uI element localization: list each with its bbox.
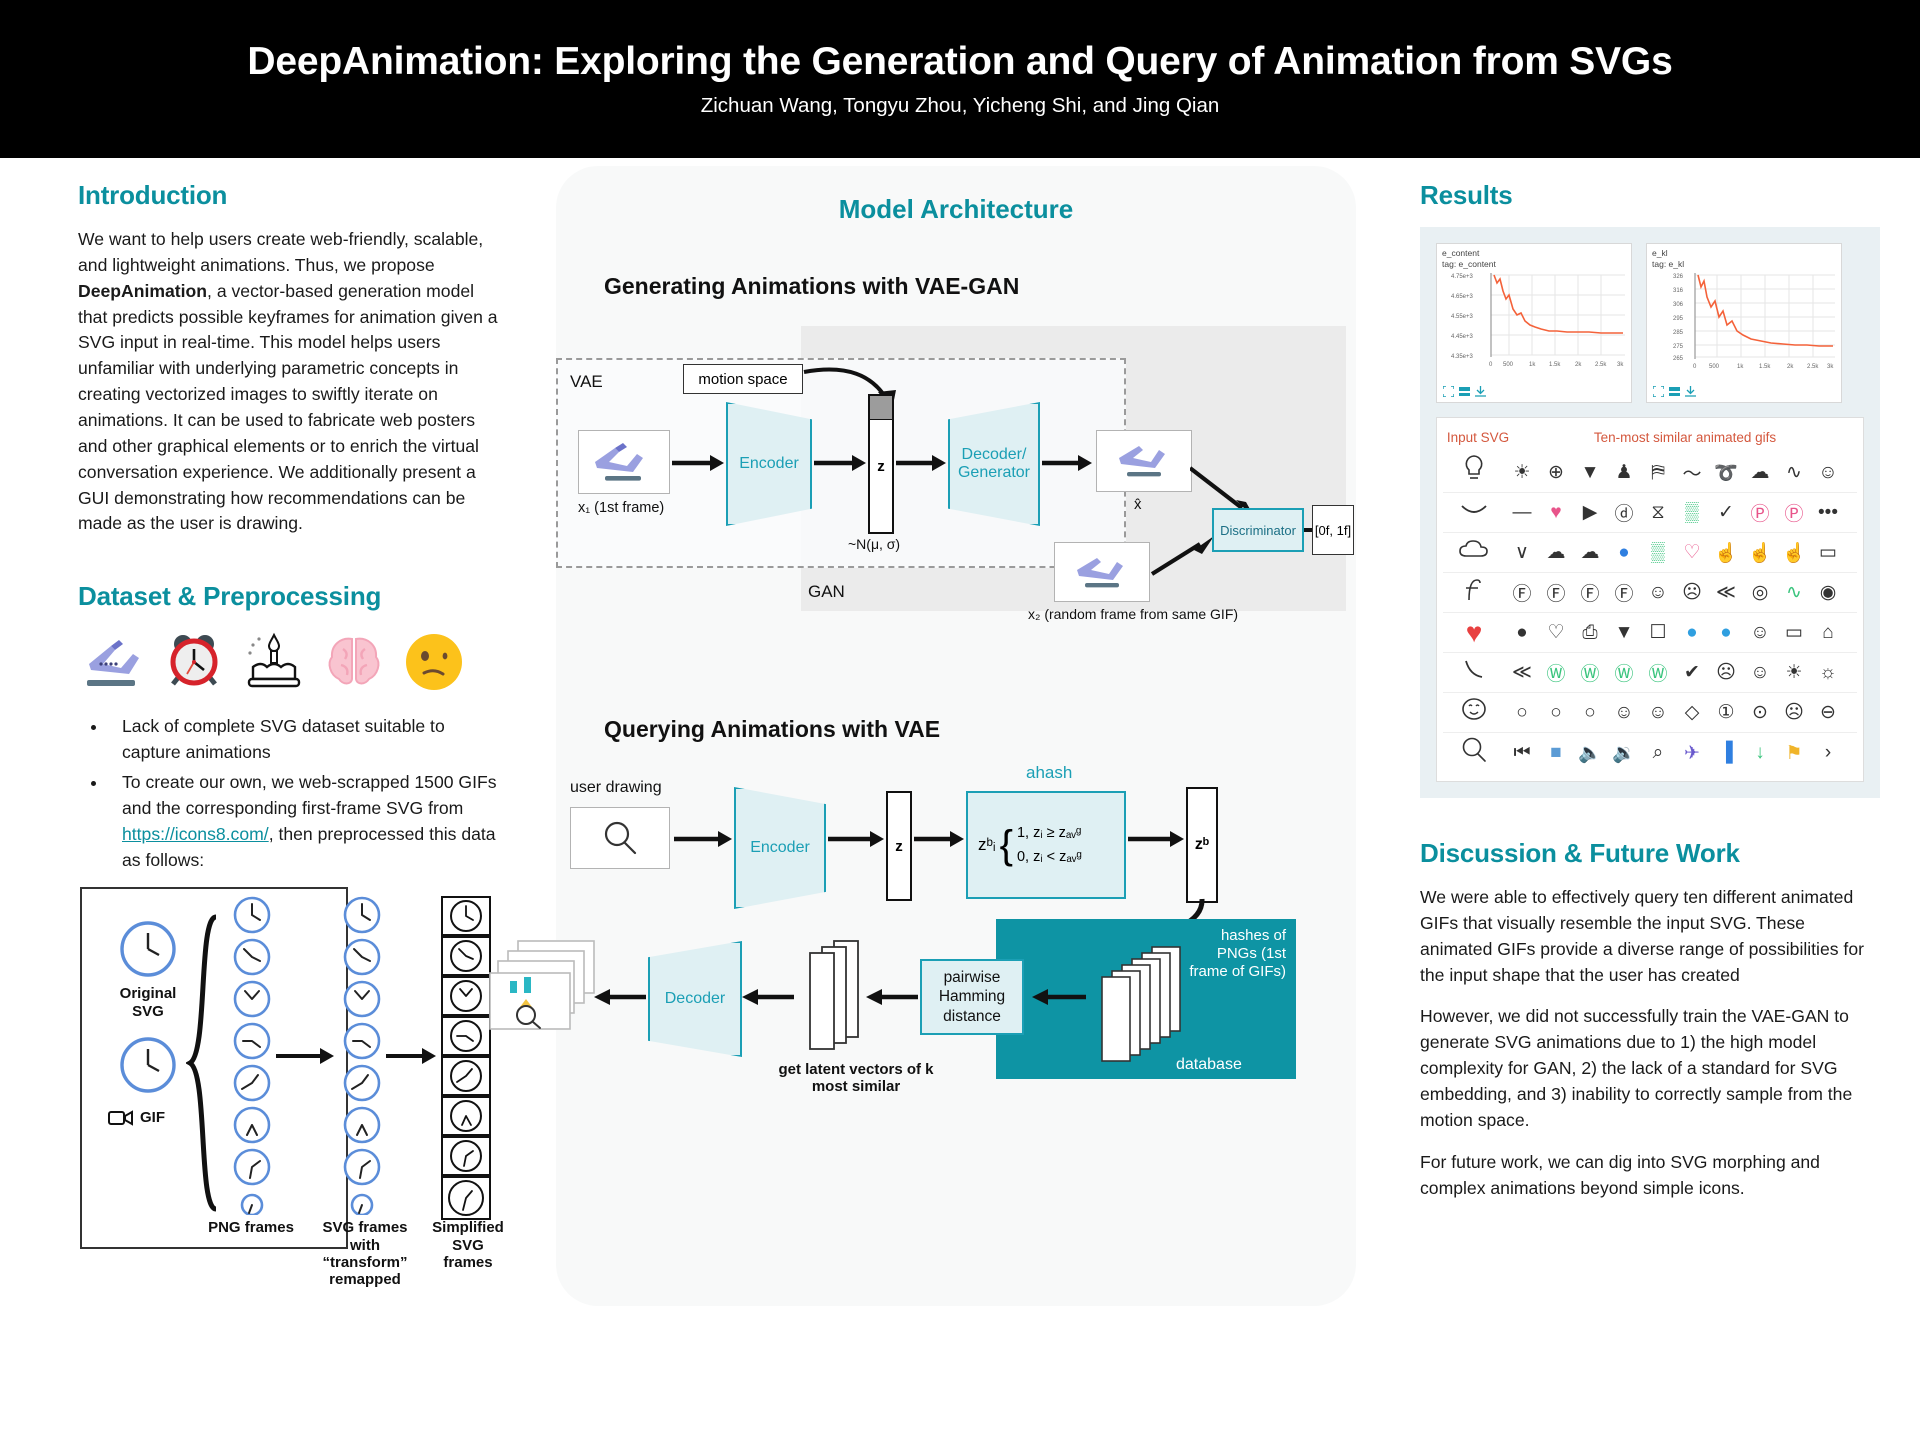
match-cell: ⎙ — [1573, 622, 1607, 644]
brace-icon: { — [1000, 829, 1013, 861]
match-cell: ◎ — [1743, 581, 1777, 604]
match-cell: ▐ — [1709, 742, 1743, 764]
svg-text:0: 0 — [1489, 362, 1493, 368]
discussion-heading: Discussion & Future Work — [1420, 838, 1880, 869]
svg-text:2.5k: 2.5k — [1807, 364, 1819, 370]
match-cell: ☺ — [1607, 702, 1641, 724]
x2-image-box — [1054, 542, 1150, 602]
magnifier-icon — [1443, 736, 1505, 771]
z-distribution-label: ~N(μ, σ) — [848, 536, 900, 552]
hash-sheets-stack-icon — [1088, 945, 1198, 1063]
decoder-label: Decoder/ Generator — [958, 446, 1030, 483]
zb-subscript-label: zᵇᵢ — [978, 835, 996, 855]
match-cell: ● — [1505, 622, 1539, 644]
match-cell: ≪ — [1709, 581, 1743, 604]
zb-label: zᵇ — [1195, 836, 1209, 854]
match-cell: ➰ — [1709, 461, 1743, 485]
x1-image-box — [578, 430, 670, 494]
user-drawing-box — [570, 807, 670, 869]
heart-icon: ♥ — [1443, 617, 1505, 649]
table-row: ☀ ⊕ ▼ ♟ ⛿ 〜 ➰ ☁ ∿ ☺ — [1443, 453, 1857, 493]
match-cell: ▭ — [1777, 621, 1811, 644]
svg-text:4.65e+3: 4.65e+3 — [1451, 294, 1474, 300]
left-column: Introduction We want to help users creat… — [78, 180, 508, 1249]
match-cell: ☀ — [1777, 661, 1811, 684]
svg-text:4.35e+3: 4.35e+3 — [1451, 354, 1474, 360]
model-heading: Model Architecture — [556, 166, 1356, 225]
svg-transform-stack — [340, 895, 384, 1215]
match-cell: ☁ — [1743, 461, 1777, 484]
svg-text:4.75e+3: 4.75e+3 — [1451, 274, 1474, 280]
similarity-results-grid: Input SVG Ten-most similar animated gifs… — [1436, 417, 1864, 782]
match-cell: 〜 — [1675, 459, 1709, 486]
arrow-encoder-to-z-icon — [828, 829, 886, 849]
match-cell: ⧖ — [1641, 502, 1675, 524]
match-cell: ⊙ — [1743, 701, 1777, 724]
airplane-icon — [78, 628, 150, 696]
z-label: z — [870, 458, 892, 475]
match-cell: ○ — [1505, 702, 1539, 724]
zb-output-bar: zᵇ — [1186, 787, 1218, 903]
backslash-icon — [1443, 657, 1505, 688]
query-z-bar: z — [886, 791, 912, 901]
tb-toolbar-2[interactable] — [1647, 386, 1841, 401]
match-cell: ♡ — [1539, 621, 1573, 644]
match-cell: Ⓦ — [1539, 659, 1573, 686]
table-row: ― ♥ ▶ ⓓ ⧖ ▒ ✓ Ⓟ Ⓟ ••• — [1443, 493, 1857, 533]
svg-text:316: 316 — [1673, 288, 1684, 294]
match-cell: ☀ — [1505, 461, 1539, 484]
svg-text:500: 500 — [1709, 364, 1720, 370]
arrow-encoder-to-z-icon — [814, 453, 868, 473]
svg-transform-label: SVG frames with “transform” remapped — [310, 1219, 420, 1288]
match-cell: Ⓕ — [1573, 579, 1607, 606]
encoder-label: Encoder — [750, 839, 810, 857]
table-row: ♥ ● ♡ ⎙ ▼ ☐ ● ● ☺ ▭ ⌂ — [1443, 613, 1857, 653]
match-cell: ⚑ — [1777, 742, 1811, 765]
match-cell: Ⓕ — [1505, 579, 1539, 606]
match-cell: ⛿ — [1641, 462, 1675, 484]
expand-icon[interactable] — [1443, 386, 1454, 397]
pipeline-arrow-1-icon — [276, 1045, 336, 1067]
discussion-paragraph-2: However, we did not successfully train t… — [1420, 1004, 1880, 1133]
svg-text:500: 500 — [1503, 362, 1514, 368]
expand-icon[interactable] — [1653, 386, 1664, 397]
match-cell: ▭ — [1811, 541, 1845, 564]
discriminator-box: Discriminator — [1212, 508, 1304, 552]
introduction-paragraph: We want to help users create web-friendl… — [78, 227, 508, 537]
vaegan-diagram: VAE GAN motion space x₁ (1st frame) — [556, 320, 1356, 620]
table-row: Ⓕ Ⓕ Ⓕ Ⓕ ☺ ☹ ≪ ◎ ∿ ◉ — [1443, 573, 1857, 613]
svg-text:306: 306 — [1673, 302, 1684, 308]
query-vae-diagram: user drawing Encoder z — [556, 769, 1356, 1159]
discussion-paragraph-3: For future work, we can dig into SVG mor… — [1420, 1150, 1880, 1202]
preprocessing-figure: OriginalSVG GIF — [78, 887, 508, 1249]
arrow-hamming-to-latent-icon — [864, 987, 920, 1007]
svg-text:326: 326 — [1673, 274, 1684, 280]
decoder-trapezoid: Decoder/ Generator — [948, 402, 1040, 526]
svg-text:4.45e+3: 4.45e+3 — [1451, 334, 1474, 340]
z-motion-segment — [870, 396, 892, 420]
match-cell: ▒ — [1675, 502, 1709, 524]
icons8-link[interactable]: https://icons8.com/ — [122, 824, 269, 844]
match-cell: ∿ — [1777, 461, 1811, 484]
intro-text-part2: , a vector-based generation model that p… — [78, 281, 498, 534]
introduction-heading: Introduction — [78, 180, 508, 211]
xhat-image-box — [1096, 430, 1192, 492]
list-item: To create our own, we web-scrapped 1500 … — [108, 770, 508, 873]
svg-text:285: 285 — [1673, 330, 1684, 336]
brace-icon — [186, 913, 226, 1213]
match-cell: Ⓟ — [1777, 499, 1811, 526]
query-subheading: Querying Animations with VAE — [604, 716, 1356, 743]
match-cell: ✓ — [1709, 501, 1743, 524]
airplane-icon — [1109, 438, 1179, 484]
video-camera-icon — [108, 1110, 134, 1126]
match-cell: ♟ — [1607, 461, 1641, 484]
match-cell: ■ — [1539, 742, 1573, 764]
x2-label: x₂ (random frame from same GIF) — [1028, 606, 1238, 622]
match-cell: Ⓦ — [1641, 659, 1675, 686]
match-cell: ● — [1709, 622, 1743, 644]
cloud-icon — [1443, 539, 1505, 567]
match-cell: ⓓ — [1607, 499, 1641, 526]
arrow-ahash-to-zb-icon — [1128, 829, 1186, 849]
tb-toolbar-1[interactable] — [1437, 386, 1631, 401]
gif-row: GIF — [108, 1109, 165, 1126]
match-cell: 🔉 — [1607, 741, 1641, 765]
svg-text:4.55e+3: 4.55e+3 — [1451, 314, 1474, 320]
svg-text:2k: 2k — [1787, 364, 1794, 370]
match-cell: ▼ — [1573, 462, 1607, 484]
list-item: Lack of complete SVG dataset suitable to… — [108, 714, 508, 766]
svg-text:1k: 1k — [1737, 364, 1744, 370]
right-column: Results e_content tag: e_content — [1420, 180, 1880, 1217]
vaegan-subheading: Generating Animations with VAE-GAN — [604, 273, 1356, 300]
match-cell: ☺ — [1641, 582, 1675, 604]
match-cell: Ⓕ — [1539, 579, 1573, 606]
svg-text:3k: 3k — [1827, 364, 1834, 370]
grid-header-row: Input SVG Ten-most similar animated gifs — [1443, 426, 1857, 453]
match-cell: ↓ — [1743, 742, 1777, 764]
arrow-z-to-decoder-icon — [896, 453, 948, 473]
xhat-label: x̂ — [1134, 496, 1142, 513]
ahash-label: ahash — [1026, 763, 1072, 783]
match-cell: 🔈 — [1573, 741, 1607, 765]
arrow-db-to-hamming-icon — [1028, 987, 1088, 1007]
original-svg-label: OriginalSVG — [96, 985, 200, 1020]
match-cell: ♡ — [1675, 541, 1709, 564]
svg-text:275: 275 — [1673, 344, 1684, 350]
query-encoder-trapezoid: Encoder — [734, 787, 826, 909]
match-cell: ● — [1607, 542, 1641, 564]
tensorboard-card-e-content: e_content tag: e_content — [1436, 243, 1632, 403]
poster-header: DeepAnimation: Exploring the Generation … — [0, 0, 1920, 158]
match-cell: ♥ — [1539, 502, 1573, 524]
original-svg-clock-icon — [118, 919, 178, 979]
tensorboard-card-e-kl: e_kl tag: e_kl — [1646, 243, 1842, 403]
match-cell: ☺ — [1811, 462, 1845, 484]
table-row: ∨ ☁ ☁ ● ▒ ♡ ☝ ☝ ☝ ▭ — [1443, 533, 1857, 573]
match-cell: Ⓕ — [1607, 579, 1641, 606]
match-cell: ☝ — [1777, 541, 1811, 565]
arrow-z-to-ahash-icon — [914, 829, 966, 849]
match-cell: Ⓦ — [1607, 659, 1641, 686]
match-cell: ☹ — [1675, 581, 1709, 604]
match-cell: ✈ — [1675, 742, 1709, 765]
alarm-clock-icon — [158, 628, 230, 696]
match-cell: ▼ — [1607, 622, 1641, 644]
motion-space-label: motion space — [698, 371, 787, 388]
bullet2-text: To create our own, we web-scrapped 1500 … — [122, 772, 497, 818]
discriminator-label: Discriminator — [1220, 523, 1296, 538]
brain-icon — [318, 628, 390, 696]
match-cell: ① — [1709, 701, 1743, 724]
data-toggle-icon[interactable] — [1459, 386, 1470, 397]
svg-text:1.5k: 1.5k — [1759, 364, 1771, 370]
match-cell: Ⓦ — [1573, 659, 1607, 686]
match-cell: ☺ — [1743, 662, 1777, 684]
x1-label: x₁ (1st frame) — [578, 500, 664, 516]
result-cards-stack-icon — [484, 939, 604, 1059]
hamming-label: pairwise Hamming distance — [939, 968, 1005, 1026]
match-cell: ∿ — [1777, 581, 1811, 604]
match-cell: ☁ — [1539, 541, 1573, 564]
birthday-cake-icon — [238, 628, 310, 696]
match-cell: ◉ — [1811, 581, 1845, 604]
data-toggle-icon[interactable] — [1669, 386, 1680, 397]
png-frames-stack — [230, 895, 274, 1215]
match-cell: Ⓟ — [1743, 499, 1777, 526]
table-row: ≪ Ⓦ Ⓦ Ⓦ Ⓦ ✔ ☹ ☺ ☀ ☼ — [1443, 653, 1857, 693]
match-cell: ▶ — [1573, 501, 1607, 524]
match-cell: ≪ — [1505, 661, 1539, 684]
png-frames-label: PNG frames — [186, 1219, 316, 1236]
grid-col1-header: Input SVG — [1443, 430, 1513, 445]
emoji-sample-row — [78, 628, 508, 696]
gif-clock-icon — [118, 1035, 178, 1095]
arrow-x1-to-encoder-icon — [672, 453, 726, 473]
tb-tag-2: tag: e_kl — [1647, 259, 1841, 270]
match-cell: ⌂ — [1811, 622, 1845, 644]
table-row: ○ ○ ○ ☺ ☺ ◇ ① ⊙ ☹ ⊖ — [1443, 693, 1857, 733]
match-cell: ▒ — [1641, 542, 1675, 564]
match-cell: ⏮ — [1505, 742, 1539, 764]
match-cell: ⊖ — [1811, 701, 1845, 724]
download-icon[interactable] — [1685, 386, 1696, 397]
match-cell: ☝ — [1709, 541, 1743, 565]
tensorboard-row: e_content tag: e_content — [1436, 243, 1864, 403]
discussion-paragraph-1: We were able to effectively query ten di… — [1420, 885, 1880, 988]
z-label: z — [895, 838, 903, 855]
z-latent-bar: z — [868, 394, 894, 534]
svg-text:265: 265 — [1673, 356, 1684, 362]
match-cell: ○ — [1573, 702, 1607, 724]
dataset-heading: Dataset & Preprocessing — [78, 581, 508, 612]
page-title: DeepAnimation: Exploring the Generation … — [247, 40, 1672, 84]
airplane-icon — [589, 438, 659, 486]
gan-label: GAN — [808, 582, 845, 602]
download-icon[interactable] — [1475, 386, 1486, 397]
match-cell: ☼ — [1811, 662, 1845, 684]
output-label: [0f, 1f] — [1315, 523, 1351, 538]
vae-label: VAE — [570, 372, 603, 392]
table-row: ⏮ ■ 🔈 🔉 ⌕ ✈ ▐ ↓ ⚑ › — [1443, 733, 1857, 773]
svg-text:295: 295 — [1673, 316, 1684, 322]
simplified-frames-label: Simplified SVG frames — [426, 1219, 510, 1271]
poster-body: Introduction We want to help users creat… — [0, 158, 1920, 1440]
f-script-icon — [1443, 576, 1505, 609]
face-icon — [1443, 696, 1505, 729]
match-cell: ☁ — [1573, 541, 1607, 564]
hashes-label: hashes of PNGs (1st frame of GIFs) — [1186, 927, 1286, 981]
magnifier-icon — [600, 818, 640, 858]
match-cell: ∨ — [1505, 541, 1539, 564]
match-cell: ••• — [1811, 502, 1845, 524]
svg-text:1k: 1k — [1529, 362, 1536, 368]
match-cell: ☐ — [1641, 621, 1675, 644]
encoder-trapezoid: Encoder — [726, 402, 812, 526]
match-cell: ◇ — [1675, 701, 1709, 724]
match-cell: ☝ — [1743, 541, 1777, 565]
lightbulb-icon — [1443, 454, 1505, 491]
results-panel: e_content tag: e_content — [1420, 227, 1880, 798]
grid-col2-header: Ten-most similar animated gifs — [1513, 430, 1857, 445]
smile-curve-icon — [1443, 499, 1505, 527]
match-cell: ☹ — [1777, 701, 1811, 724]
match-cell: ☹ — [1709, 661, 1743, 684]
tb-title-1: e_content — [1437, 244, 1631, 259]
encoder-label: Encoder — [739, 455, 799, 473]
match-cell: ⌕ — [1641, 742, 1675, 764]
match-cell: ― — [1505, 502, 1539, 524]
match-cell: ● — [1675, 622, 1709, 644]
intro-text-part1: We want to help users create web-friendl… — [78, 229, 483, 275]
match-cell: ☺ — [1743, 622, 1777, 644]
svg-text:3k: 3k — [1617, 362, 1624, 368]
svg-text:0: 0 — [1693, 364, 1697, 370]
airplane-icon — [1067, 550, 1137, 594]
ahash-condition-bottom: 0, zᵢ < zₐᵥᵍ — [1017, 849, 1082, 865]
discriminator-output-box: [0f, 1f] — [1312, 505, 1354, 555]
match-cell: ☺ — [1641, 702, 1675, 724]
latent-vectors-label: get latent vectors of k most similar — [766, 1061, 946, 1096]
tb-tag-1: tag: e_content — [1437, 259, 1631, 270]
thinking-face-icon — [398, 628, 470, 696]
arrow-drawing-to-encoder-icon — [674, 829, 734, 849]
match-cell: ⊕ — [1539, 461, 1573, 484]
svg-text:1.5k: 1.5k — [1549, 362, 1561, 368]
match-cell: ✔ — [1675, 661, 1709, 684]
query-decoder-trapezoid: Decoder — [648, 941, 742, 1057]
ahash-box: zᵇᵢ { 1, zᵢ ≥ zₐᵥᵍ 0, zᵢ < zₐᵥᵍ — [966, 791, 1126, 899]
decoder-label: Decoder — [665, 990, 725, 1008]
svg-text:2k: 2k — [1575, 362, 1582, 368]
svg-text:2.5k: 2.5k — [1595, 362, 1607, 368]
results-heading: Results — [1420, 180, 1880, 211]
gif-label: GIF — [140, 1109, 165, 1126]
match-cell: › — [1811, 742, 1845, 764]
arrow-decoder-to-xhat-icon — [1042, 453, 1094, 473]
intro-bold-term: DeepAnimation — [78, 281, 207, 301]
motion-space-node: motion space — [683, 364, 803, 394]
hamming-distance-box: pairwise Hamming distance — [920, 959, 1024, 1035]
latent-vectors-stack-icon — [792, 939, 870, 1055]
dataset-bullets: Lack of complete SVG dataset suitable to… — [108, 714, 508, 873]
loss-chart-e-kl: 326316306 295285275265 05001k 1.5k2k2.5k… — [1647, 269, 1843, 381]
model-architecture-panel: Model Architecture Generating Animations… — [556, 166, 1356, 1306]
loss-chart-e-content: 4.75e+34.65e+3 4.55e+34.45e+3 4.35e+3 05… — [1437, 269, 1633, 381]
ahash-condition-top: 1, zᵢ ≥ zₐᵥᵍ — [1017, 825, 1082, 841]
arrow-x2-to-discriminator-icon — [1148, 534, 1218, 582]
match-cell: ○ — [1539, 702, 1573, 724]
author-list: Zichuan Wang, Tongyu Zhou, Yicheng Shi, … — [701, 94, 1220, 118]
tb-title-2: e_kl — [1647, 244, 1841, 259]
arrow-latent-to-decoder-icon — [742, 987, 796, 1007]
user-drawing-label: user drawing — [570, 779, 662, 797]
pipeline-arrow-2-icon — [386, 1045, 438, 1067]
